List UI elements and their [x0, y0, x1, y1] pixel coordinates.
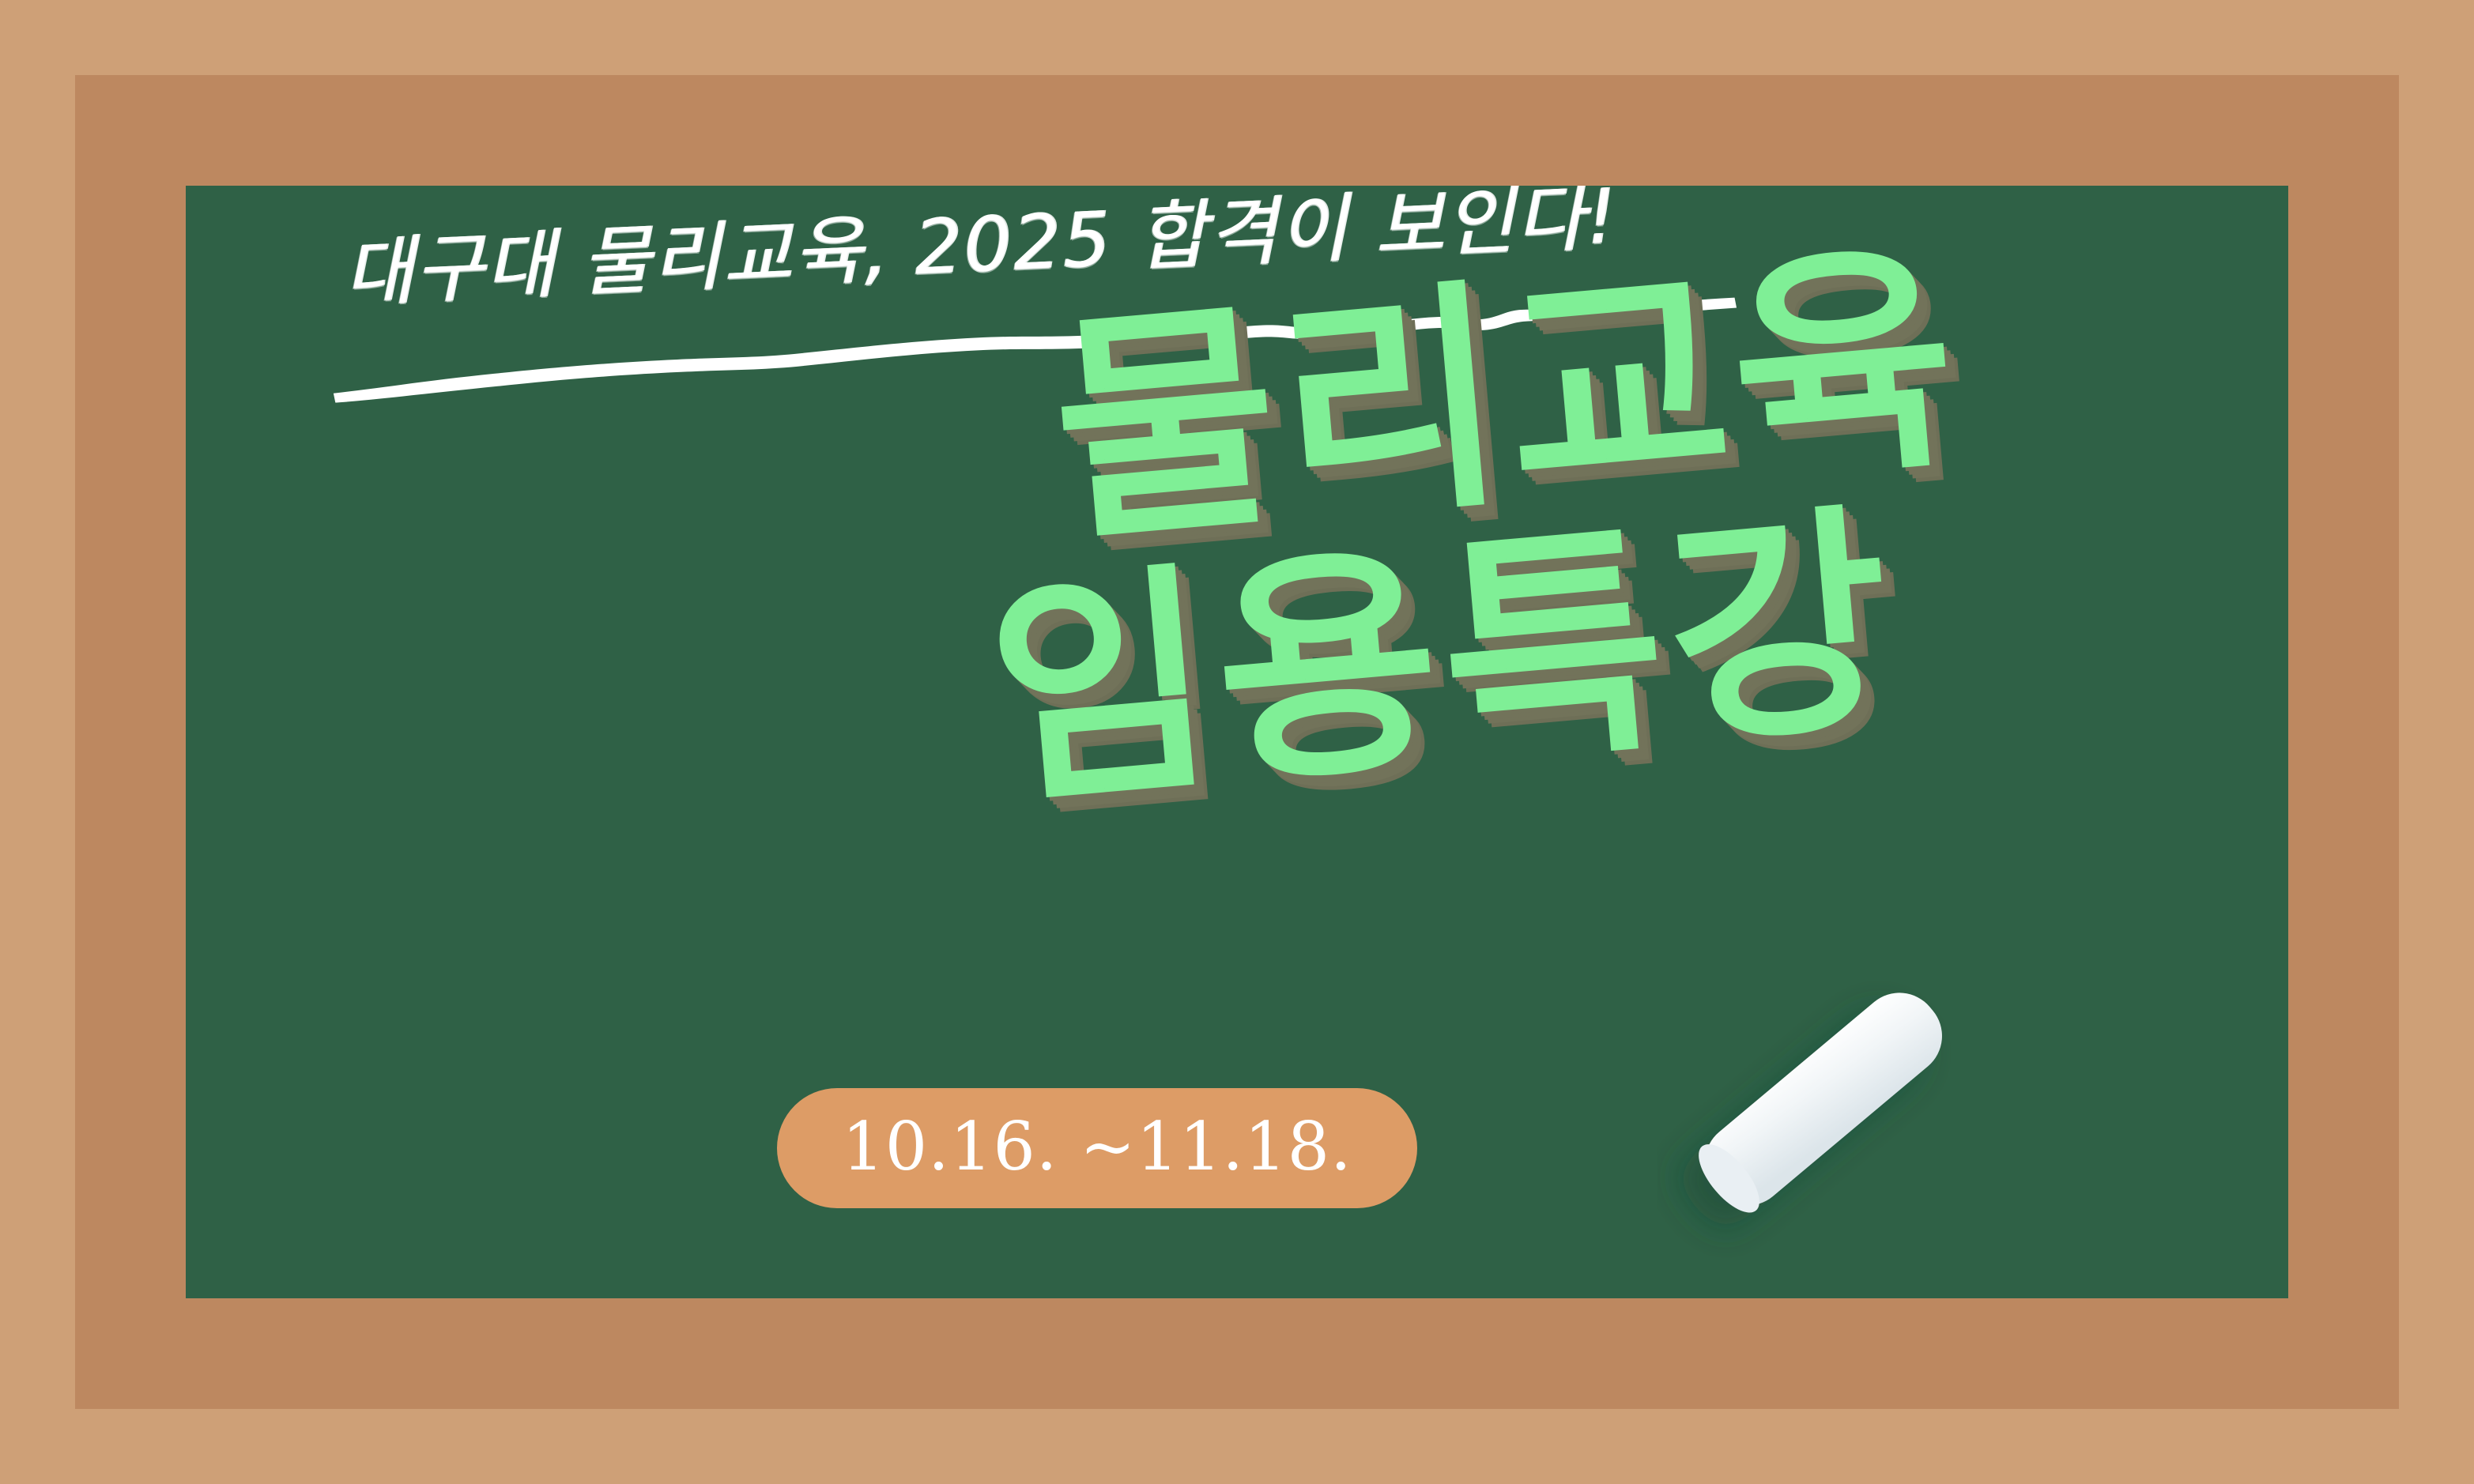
date-badge: 10.16. ~11.18.: [777, 1088, 1417, 1208]
date-range-text: 10.16. ~11.18.: [842, 1113, 1352, 1180]
poster-root: 대구대 물리교육, 2025 합격이 보인다! 물리교육 임용특강 10.16.…: [0, 0, 2474, 1484]
chalk-stick-icon: [1658, 933, 1989, 1265]
chalkboard: 대구대 물리교육, 2025 합격이 보인다! 물리교육 임용특강 10.16.…: [186, 186, 2288, 1298]
poster-frame-inner: 대구대 물리교육, 2025 합격이 보인다! 물리교육 임용특강 10.16.…: [75, 75, 2399, 1409]
headline-group: 물리교육 임용특강: [594, 236, 2023, 849]
